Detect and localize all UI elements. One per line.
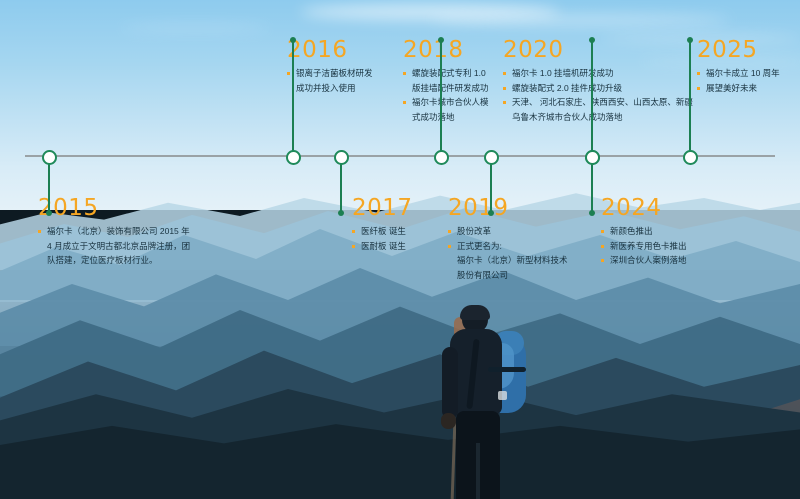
milestone-item: 乌鲁木齐城市合伙人成功落地 (503, 111, 693, 124)
timeline-stem-2015 (48, 156, 50, 213)
timeline-entry-2015[interactable]: 2015福尔卡（北京）装饰有限公司 2015 年4 月成立于文明古都北京品牌注册… (38, 196, 190, 269)
timeline-entry-2018[interactable]: 2018螺旋装配式专利 1.0版挂墙配件研发成功福尔卡城市合伙人模式成功落地 (403, 38, 489, 125)
year-label-2020: 2020 (503, 38, 693, 63)
milestone-item: 4 月成立于文明古都北京品牌注册，团 (38, 240, 190, 253)
year-label-2025: 2025 (697, 38, 780, 63)
milestone-item: 股份有限公司 (448, 269, 568, 282)
milestone-item: 福尔卡（北京）新型材料技术 (448, 254, 568, 267)
timeline-marker-2017[interactable] (334, 150, 349, 165)
milestone-item: 医纤板 诞生 (352, 225, 413, 238)
milestone-list-2018: 螺旋装配式专利 1.0版挂墙配件研发成功福尔卡城市合伙人模式成功落地 (403, 67, 489, 123)
milestone-list-2015: 福尔卡（北京）装饰有限公司 2015 年4 月成立于文明古都北京品牌注册，团队搭… (38, 225, 190, 267)
year-label-2016: 2016 (287, 38, 373, 63)
milestone-item: 式成功落地 (403, 111, 489, 124)
timeline-entry-2019[interactable]: 2019股份改革正式更名为:福尔卡（北京）新型材料技术股份有限公司 (448, 196, 568, 283)
milestone-item: 成功并投入使用 (287, 82, 373, 95)
timeline-entry-2016[interactable]: 2016银离子洁菌板材研发成功并投入使用 (287, 38, 373, 96)
timeline-stem-2017 (340, 156, 342, 213)
milestone-list-2016: 银离子洁菌板材研发成功并投入使用 (287, 67, 373, 94)
milestone-list-2020: 福尔卡 1.0 挂墙机研发成功螺旋装配式 2.0 挂件成功升级天津、 河北石家庄… (503, 67, 693, 123)
timeline-stem-2025 (689, 40, 691, 156)
milestone-list-2019: 股份改革正式更名为:福尔卡（北京）新型材料技术股份有限公司 (448, 225, 568, 281)
milestone-item: 新医养专用色卡推出 (601, 240, 687, 253)
timeline-entry-2017[interactable]: 2017医纤板 诞生医耐板 诞生 (352, 196, 413, 254)
cloud (430, 14, 730, 26)
timeline-stem-cap-2016 (290, 37, 296, 43)
timeline-entry-2025[interactable]: 2025福尔卡成立 10 周年展望美好未来 (697, 38, 780, 96)
timeline-marker-2018[interactable] (434, 150, 449, 165)
timeline-stem-2019 (490, 156, 492, 213)
timeline-marker-2024[interactable] (585, 150, 600, 165)
timeline-marker-2015[interactable] (42, 150, 57, 165)
backpack-buckle (498, 391, 507, 400)
milestone-item: 天津、 河北石家庄、陕西西安、山西太原、新疆 (503, 96, 693, 109)
timeline-stem-2020 (591, 40, 593, 156)
timeline-marker-2019[interactable] (484, 150, 499, 165)
timeline-marker-2025[interactable] (683, 150, 698, 165)
milestone-list-2017: 医纤板 诞生医耐板 诞生 (352, 225, 413, 252)
milestone-item: 螺旋装配式 2.0 挂件成功升级 (503, 82, 693, 95)
year-label-2017: 2017 (352, 196, 413, 221)
timeline-stem-cap-2015 (46, 210, 52, 216)
milestone-item: 新颜色推出 (601, 225, 687, 238)
milestone-item: 福尔卡 1.0 挂墙机研发成功 (503, 67, 693, 80)
year-label-2019: 2019 (448, 196, 568, 221)
milestone-list-2025: 福尔卡成立 10 周年展望美好未来 (697, 67, 780, 94)
timeline-stem-2016 (292, 40, 294, 156)
timeline-entry-2024[interactable]: 2024新颜色推出新医养专用色卡推出深圳合伙人案例落地 (601, 196, 687, 269)
cap (460, 305, 490, 320)
hiker-figure (432, 307, 552, 499)
milestone-item: 福尔卡城市合伙人模 (403, 96, 489, 109)
arm (442, 347, 458, 419)
milestone-item: 正式更名为: (448, 240, 568, 253)
milestone-item: 螺旋装配式专利 1.0 (403, 67, 489, 80)
timeline-stem-cap-2018 (438, 37, 444, 43)
milestone-item: 版挂墙配件研发成功 (403, 82, 489, 95)
milestone-item: 深圳合伙人案例落地 (601, 254, 687, 267)
milestone-list-2024: 新颜色推出新医养专用色卡推出深圳合伙人案例落地 (601, 225, 687, 267)
timeline-marker-2016[interactable] (286, 150, 301, 165)
timeline-stem-cap-2019 (488, 210, 494, 216)
year-label-2024: 2024 (601, 196, 687, 221)
timeline-stem-cap-2020 (589, 37, 595, 43)
year-label-2015: 2015 (38, 196, 190, 221)
milestone-item: 银离子洁菌板材研发 (287, 67, 373, 80)
year-label-2018: 2018 (403, 38, 489, 63)
hand (441, 413, 456, 429)
infographic-canvas: 2015福尔卡（北京）装饰有限公司 2015 年4 月成立于文明古都北京品牌注册… (0, 0, 800, 499)
timeline-stem-cap-2024 (589, 210, 595, 216)
timeline-stem-cap-2017 (338, 210, 344, 216)
milestone-item: 队搭建，定位医疗板材行业。 (38, 254, 190, 267)
cloud (120, 24, 270, 32)
backpack-strap (488, 367, 526, 372)
milestone-item: 股份改革 (448, 225, 568, 238)
milestone-item: 福尔卡（北京）装饰有限公司 2015 年 (38, 225, 190, 238)
timeline-stem-cap-2025 (687, 37, 693, 43)
timeline-stem-2018 (440, 40, 442, 156)
leg-gap (476, 443, 480, 499)
timeline-axis (25, 155, 775, 157)
milestone-item: 福尔卡成立 10 周年 (697, 67, 780, 80)
timeline-stem-2024 (591, 156, 593, 213)
milestone-item: 展望美好未来 (697, 82, 780, 95)
milestone-item: 医耐板 诞生 (352, 240, 413, 253)
timeline-entry-2020[interactable]: 2020福尔卡 1.0 挂墙机研发成功螺旋装配式 2.0 挂件成功升级天津、 河… (503, 38, 693, 125)
